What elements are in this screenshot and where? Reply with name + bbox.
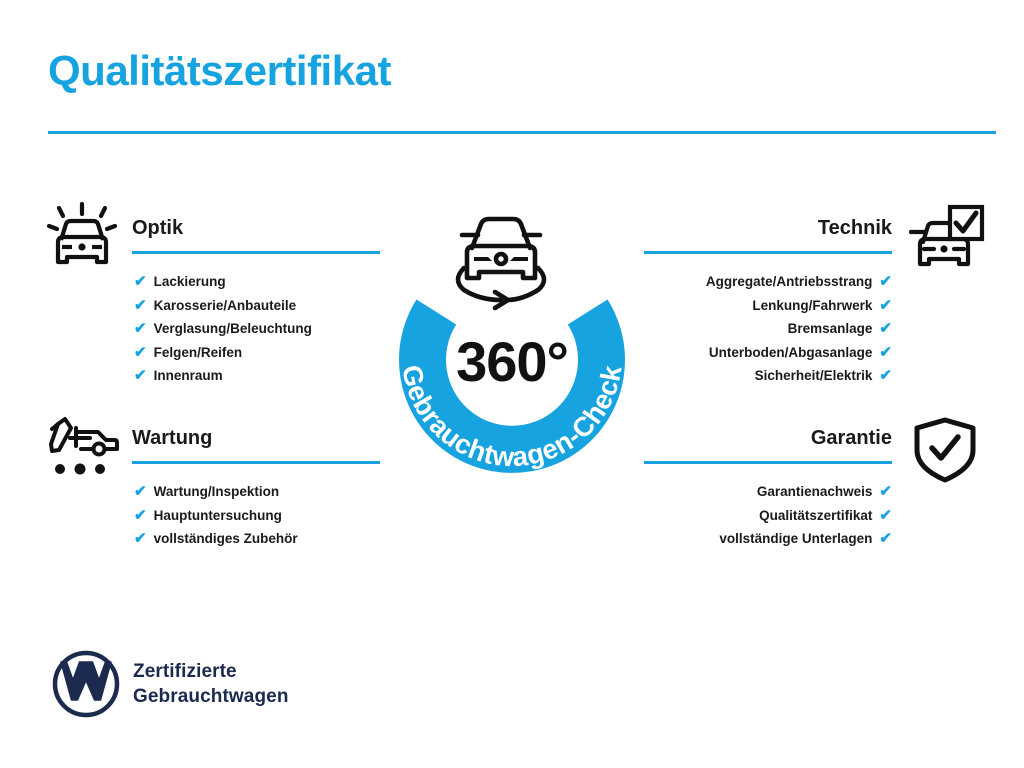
check-icon: ✔ (879, 531, 892, 546)
section-wartung-underline (132, 461, 380, 464)
list-item-label: Garantienachweis (757, 480, 873, 504)
section-optik-underline (132, 251, 380, 254)
check-icon: ✔ (134, 531, 147, 546)
section-wartung-title: Wartung (132, 410, 380, 448)
section-technik: Technik Aggregate/Antriebsstrang✔ Lenkun… (644, 200, 976, 388)
section-optik-title: Optik (132, 200, 380, 238)
section-garantie: Garantie Garantienachweis✔ Qualitätszert… (644, 410, 976, 551)
list-item: vollständige Unterlagen✔ (644, 527, 976, 551)
certificate-page: Qualitätszertifikat Optik (0, 0, 1024, 768)
list-item-label: vollständige Unterlagen (719, 527, 872, 551)
header-divider (48, 131, 996, 134)
check-icon: ✔ (879, 508, 892, 523)
section-garantie-header: Garantie (644, 410, 976, 472)
list-item-label: Lackierung (154, 270, 226, 294)
list-item-label: Wartung/Inspektion (154, 480, 280, 504)
badge-center-text: 360° (456, 330, 568, 393)
footer-brand-text: Zertifizierte Gebrauchtwagen (133, 659, 289, 709)
list-item: Sicherheit/Elektrik✔ (644, 364, 976, 388)
list-item: Unterboden/Abgasanlage✔ (644, 341, 976, 365)
footer-line-2: Gebrauchtwagen (133, 684, 289, 709)
list-item-label: Felgen/Reifen (154, 341, 243, 365)
section-technik-header: Technik (644, 200, 976, 262)
list-item-label: Verglasung/Beleuchtung (154, 317, 312, 341)
list-item: ✔Wartung/Inspektion (48, 480, 380, 504)
check-icon: ✔ (879, 321, 892, 336)
list-item-label: Sicherheit/Elektrik (755, 364, 873, 388)
list-item-label: Bremsanlage (788, 317, 873, 341)
section-wartung-list: ✔Wartung/Inspektion ✔Hauptuntersuchung ✔… (48, 480, 380, 551)
vw-logo-icon (52, 650, 120, 718)
footer-line-1: Zertifizierte (133, 659, 289, 684)
section-garantie-underline (644, 461, 892, 464)
list-item: Lenkung/Fahrwerk✔ (644, 294, 976, 318)
section-optik: Optik ✔Lackierung ✔Karosserie/Anbauteile… (48, 200, 380, 388)
list-item-label: vollständiges Zubehör (154, 527, 298, 551)
check-icon: ✔ (134, 484, 147, 499)
list-item-label: Lenkung/Fahrwerk (752, 294, 872, 318)
list-item-label: Qualitätszertifikat (759, 504, 872, 528)
section-optik-list: ✔Lackierung ✔Karosserie/Anbauteile ✔Verg… (48, 270, 380, 388)
list-item-label: Innenraum (154, 364, 223, 388)
list-item: ✔Innenraum (48, 364, 380, 388)
list-item-label: Karosserie/Anbauteile (154, 294, 297, 318)
list-item: Garantienachweis✔ (644, 480, 976, 504)
check-icon: ✔ (134, 321, 147, 336)
list-item: ✔Felgen/Reifen (48, 341, 380, 365)
check-icon: ✔ (134, 298, 147, 313)
check-icon: ✔ (879, 274, 892, 289)
check-icon: ✔ (134, 345, 147, 360)
list-item-label: Hauptuntersuchung (154, 504, 282, 528)
badge-360-gebrauchtwagen-check: Gebrauchtwagen-Check 360° (372, 196, 652, 486)
page-title: Qualitätszertifikat (48, 48, 391, 94)
section-garantie-title: Garantie (644, 410, 892, 448)
check-icon: ✔ (879, 368, 892, 383)
section-optik-header: Optik (48, 200, 380, 262)
section-technik-list: Aggregate/Antriebsstrang✔ Lenkung/Fahrwe… (644, 270, 976, 388)
section-wartung-header: Wartung (48, 410, 380, 472)
check-icon: ✔ (879, 345, 892, 360)
list-item: ✔Hauptuntersuchung (48, 504, 380, 528)
list-item: Bremsanlage✔ (644, 317, 976, 341)
list-item: ✔Karosserie/Anbauteile (48, 294, 380, 318)
list-item: ✔Lackierung (48, 270, 380, 294)
list-item: ✔vollständiges Zubehör (48, 527, 380, 551)
check-icon: ✔ (134, 274, 147, 289)
section-garantie-list: Garantienachweis✔ Qualitätszertifikat✔ v… (644, 480, 976, 551)
section-wartung: Wartung ✔Wartung/Inspektion ✔Hauptunters… (48, 410, 380, 551)
check-icon: ✔ (879, 484, 892, 499)
section-technik-underline (644, 251, 892, 254)
check-icon: ✔ (134, 508, 147, 523)
check-icon: ✔ (134, 368, 147, 383)
list-item-label: Unterboden/Abgasanlage (709, 341, 873, 365)
list-item: ✔Verglasung/Beleuchtung (48, 317, 380, 341)
section-technik-title: Technik (644, 200, 892, 238)
list-item: Qualitätszertifikat✔ (644, 504, 976, 528)
list-item: Aggregate/Antriebsstrang✔ (644, 270, 976, 294)
check-icon: ✔ (879, 298, 892, 313)
list-item-label: Aggregate/Antriebsstrang (706, 270, 873, 294)
car-rotate-360-icon (458, 219, 544, 308)
